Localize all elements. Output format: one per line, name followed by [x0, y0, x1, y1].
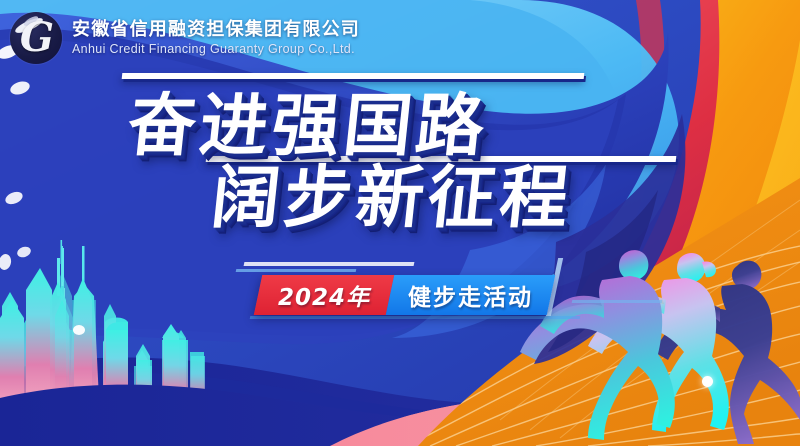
banner-accent-stroke-2 [236, 269, 357, 272]
banner-accent-stroke-5 [572, 300, 663, 303]
moon-highlight-dot [73, 325, 85, 335]
runner-highlight-dot [702, 376, 713, 387]
sub-banner-year-label: 2024年 [278, 278, 370, 312]
brand-header: G 安徽省信用融资担保集团有限公司 Anhui Credit Financing… [10, 12, 360, 64]
sub-banner-activity: 健步走活动 [386, 275, 556, 315]
headline-underline-2 [206, 156, 677, 162]
poster-artwork [0, 0, 800, 446]
company-monogram-g-icon: G [10, 12, 62, 64]
headline-underline-1 [122, 73, 585, 79]
sub-banner: 2024年 健步走活动 [254, 275, 556, 315]
event-poster: G 安徽省信用融资担保集团有限公司 Anhui Credit Financing… [0, 0, 800, 446]
sub-banner-year: 2024年 [254, 275, 395, 315]
logo-letter: G [10, 12, 62, 64]
banner-accent-stroke-3 [250, 316, 581, 319]
company-name-cn: 安徽省信用融资担保集团有限公司 [72, 19, 360, 40]
sub-banner-activity-label: 健步走活动 [408, 278, 533, 312]
banner-accent-stroke-1 [244, 262, 415, 266]
company-name-en: Anhui Credit Financing Guaranty Group Co… [72, 41, 360, 57]
company-name-block: 安徽省信用融资担保集团有限公司 Anhui Credit Financing G… [72, 19, 360, 58]
